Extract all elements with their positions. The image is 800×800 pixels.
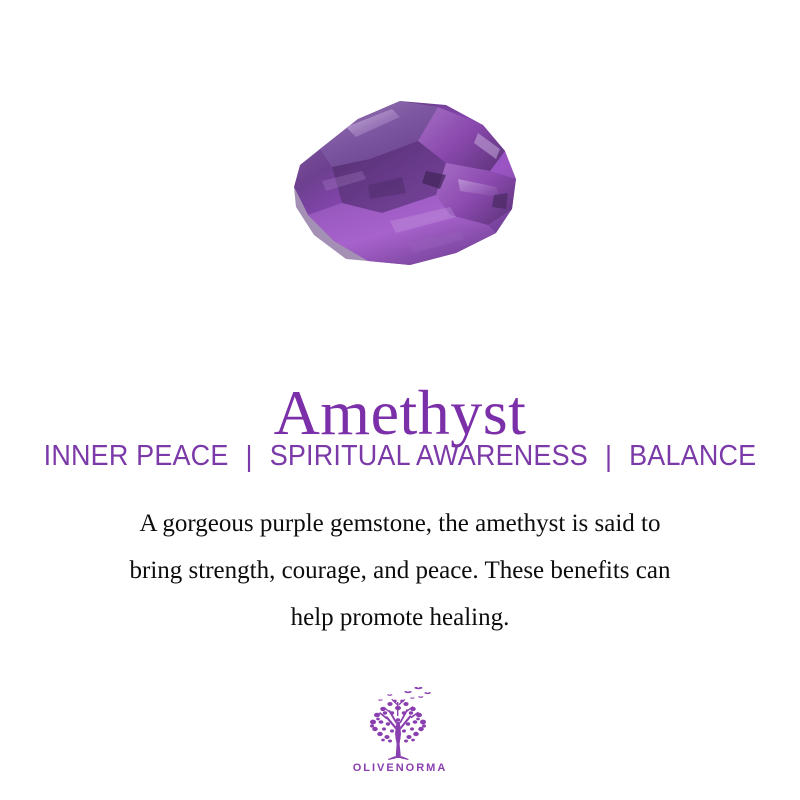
keyword-subtitle: INNER PEACE | SPIRITUAL AWARENESS | BALA…	[28, 440, 772, 473]
description-line: bring strength, courage, and peace. Thes…	[50, 547, 750, 594]
description-text: A gorgeous purple gemstone, the amethyst…	[50, 500, 750, 641]
amethyst-image-container	[0, 60, 800, 310]
tree-icon	[354, 682, 446, 760]
product-info-card: Amethyst INNER PEACE | SPIRITUAL AWARENE…	[0, 0, 800, 800]
keyword-separator: |	[605, 441, 612, 474]
page-title: Amethyst	[0, 379, 800, 446]
keyword-balance: BALANCE	[629, 440, 756, 472]
raw-amethyst-crystal-icon	[250, 75, 550, 295]
description-line: help promote healing.	[50, 594, 750, 641]
brand-logo: OLIVENORMA	[0, 682, 800, 774]
keyword-spiritual-awareness: SPIRITUAL AWARENESS	[270, 440, 588, 472]
brand-name: OLIVENORMA	[353, 762, 448, 774]
description-line: A gorgeous purple gemstone, the amethyst…	[50, 500, 750, 547]
keyword-separator: |	[246, 441, 253, 474]
keyword-inner-peace: INNER PEACE	[44, 440, 229, 472]
